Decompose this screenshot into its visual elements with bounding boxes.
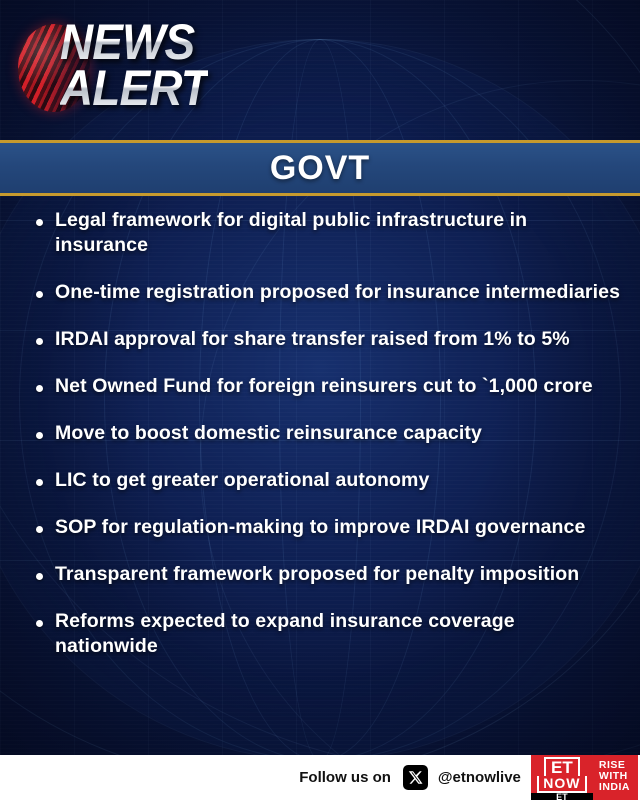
bullet-dot-icon xyxy=(36,432,43,439)
follow-us-label: Follow us on xyxy=(299,769,391,786)
bullet-dot-icon xyxy=(36,385,43,392)
page-title: GOVT xyxy=(270,149,370,188)
bullet-dot-icon xyxy=(36,291,43,298)
et-url-prefix: ET xyxy=(531,793,593,800)
etnow-logo[interactable]: ET NOW ETNOW.IN RISE WITH INDIA xyxy=(531,755,638,800)
list-item-text: Reforms expected to expand insurance cov… xyxy=(55,609,622,659)
list-item: Legal framework for digital public infra… xyxy=(18,208,622,258)
title-band: GOVT xyxy=(0,140,640,196)
bullet-dot-icon xyxy=(36,526,43,533)
now-text: NOW xyxy=(543,776,580,791)
list-item-text: Transparent framework proposed for penal… xyxy=(55,562,622,587)
etnow-url: ETNOW.IN xyxy=(531,793,593,800)
bullet-dot-icon xyxy=(36,573,43,580)
news-alert-line-1: NEWS xyxy=(60,20,208,64)
bullet-dot-icon xyxy=(36,620,43,627)
et-box: ET xyxy=(544,757,580,776)
list-item-text: LIC to get greater operational autonomy xyxy=(55,468,622,493)
list-item-text: Legal framework for digital public infra… xyxy=(55,208,622,258)
footer-bar: Follow us on @etnowlive ET NOW ETNOW.IN … xyxy=(0,755,640,800)
social-handle[interactable]: @etnowlive xyxy=(438,769,521,786)
news-alert-line-2: ALERT xyxy=(60,66,208,110)
list-item: One-time registration proposed for insur… xyxy=(18,280,622,305)
list-item-text: Move to boost domestic reinsurance capac… xyxy=(55,421,622,446)
etnow-tagline: RISE WITH INDIA xyxy=(593,755,638,800)
news-alert-wordmark: NEWS ALERT xyxy=(60,20,221,110)
bullet-dot-icon xyxy=(36,479,43,486)
et-text: ET xyxy=(551,759,573,776)
list-item: Move to boost domestic reinsurance capac… xyxy=(18,421,622,446)
bullet-dot-icon xyxy=(36,338,43,345)
etnow-logo-mark: ET NOW ETNOW.IN xyxy=(531,755,593,800)
tagline-line-3: INDIA xyxy=(599,782,630,793)
list-item: LIC to get greater operational autonomy xyxy=(18,468,622,493)
bullet-list: Legal framework for digital public infra… xyxy=(0,200,640,681)
list-item: Reforms expected to expand insurance cov… xyxy=(18,609,622,659)
list-item-text: Net Owned Fund for foreign reinsurers cu… xyxy=(55,374,622,399)
list-item: IRDAI approval for share transfer raised… xyxy=(18,327,622,352)
list-item: SOP for regulation-making to improve IRD… xyxy=(18,515,622,540)
bullet-dot-icon xyxy=(36,219,43,226)
list-item-text: One-time registration proposed for insur… xyxy=(55,280,622,305)
masthead: NEWS ALERT xyxy=(0,0,640,140)
x-twitter-icon[interactable] xyxy=(403,765,428,790)
list-item: Net Owned Fund for foreign reinsurers cu… xyxy=(18,374,622,399)
list-item-text: SOP for regulation-making to improve IRD… xyxy=(55,515,622,540)
news-alert-graphic: NEWS ALERT GOVT Legal framework for digi… xyxy=(0,0,640,800)
list-item: Transparent framework proposed for penal… xyxy=(18,562,622,587)
list-item-text: IRDAI approval for share transfer raised… xyxy=(55,327,622,352)
now-box: NOW xyxy=(537,776,586,793)
